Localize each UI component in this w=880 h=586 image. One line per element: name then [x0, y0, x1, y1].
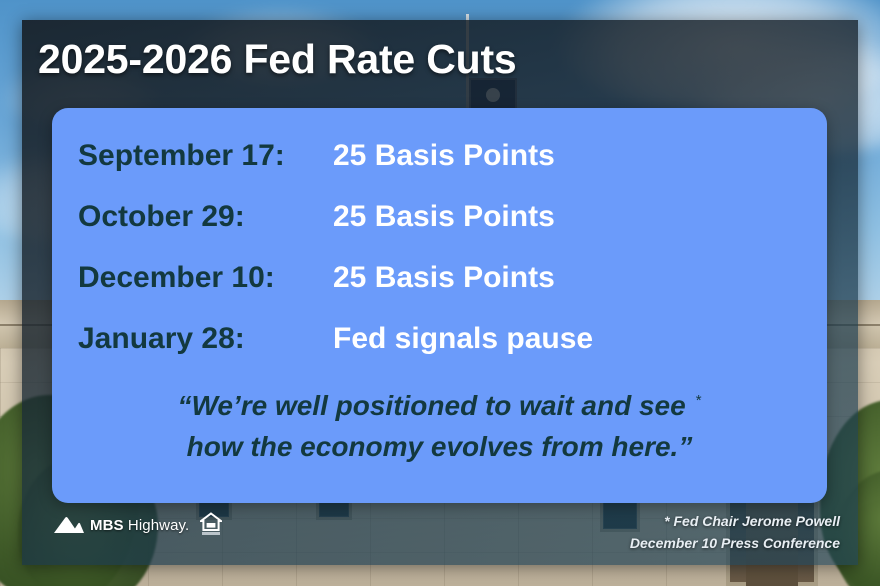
schedule-row-value: Fed signals pause — [333, 322, 593, 356]
schedule-row-value: 25 Basis Points — [333, 200, 555, 234]
schedule-row: October 29: 25 Basis Points — [78, 186, 853, 247]
page-title: 2025-2026 Fed Rate Cuts — [38, 36, 517, 83]
mountain-icon — [54, 516, 84, 533]
schedule-row-value: 25 Basis Points — [333, 261, 555, 295]
schedule-row: January 28: Fed signals pause — [78, 308, 853, 369]
source-attribution: * Fed Chair Jerome Powell December 10 Pr… — [630, 510, 840, 554]
powell-quote: “We’re well positioned to wait and see* … — [52, 380, 827, 467]
quote-line-2: how the economy evolves from here.” — [187, 431, 693, 462]
source-line-1: * Fed Chair Jerome Powell — [630, 510, 840, 532]
logo-text-bold: MBS — [90, 517, 124, 534]
mbs-highway-wordmark: MBS Highway. — [90, 518, 189, 533]
source-line-2: December 10 Press Conference — [630, 532, 840, 554]
schedule-row: December 10: 25 Basis Points — [78, 247, 853, 308]
schedule-row-date: October 29: — [78, 200, 333, 234]
schedule-row-value: 25 Basis Points — [333, 139, 555, 173]
logo-text-light: Highway. — [128, 517, 189, 534]
equal-housing-opportunity-icon — [200, 512, 222, 536]
rate-cut-card: September 17: 25 Basis Points October 29… — [52, 108, 827, 503]
slide-canvas: 2025-2026 Fed Rate Cuts September 17: 25… — [0, 0, 880, 586]
schedule-row-date: January 28: — [78, 322, 333, 356]
schedule-row-date: December 10: — [78, 261, 333, 295]
schedule-row-date: September 17: — [78, 139, 333, 173]
mbs-highway-logo: MBS Highway. — [54, 516, 189, 533]
schedule-row: September 17: 25 Basis Points — [78, 125, 853, 186]
branding: MBS Highway. — [54, 512, 222, 536]
rate-cut-schedule-list: September 17: 25 Basis Points October 29… — [78, 125, 853, 369]
quote-line-1: “We’re well positioned to wait and see — [177, 390, 685, 421]
quote-asterisk: * — [686, 392, 702, 409]
